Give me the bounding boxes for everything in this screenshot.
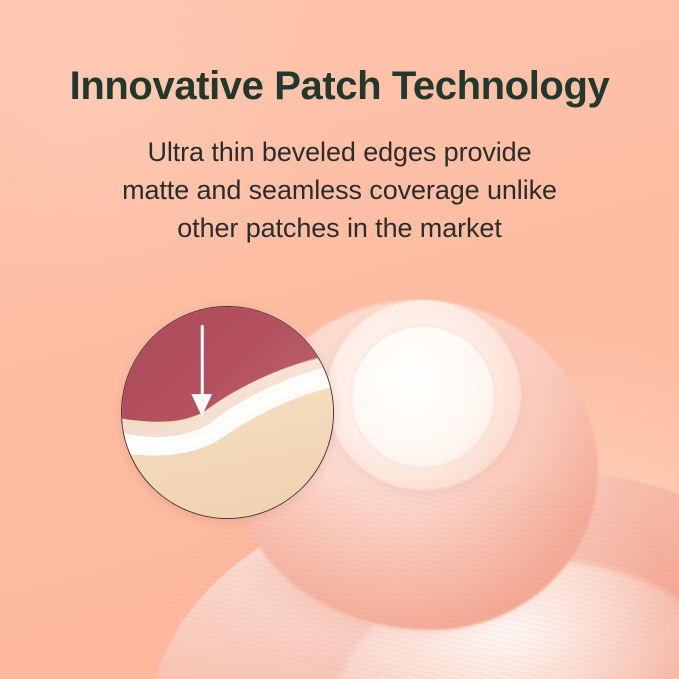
page-subtitle: Ultra thin beveled edges provide matte a… [0, 109, 679, 248]
subtitle-line-2: matte and seamless coverage unlike [0, 171, 679, 209]
magnifier-illustration [122, 307, 333, 518]
text-block: Innovative Patch Technology Ultra thin b… [0, 0, 679, 248]
page-title: Innovative Patch Technology [0, 0, 679, 109]
subtitle-line-1: Ultra thin beveled edges provide [0, 133, 679, 171]
cross-section-magnifier [121, 306, 334, 519]
patch-rim-highlight [352, 327, 494, 467]
product-marketing-image: Innovative Patch Technology Ultra thin b… [0, 0, 679, 679]
subtitle-line-3: other patches in the market [0, 209, 679, 247]
